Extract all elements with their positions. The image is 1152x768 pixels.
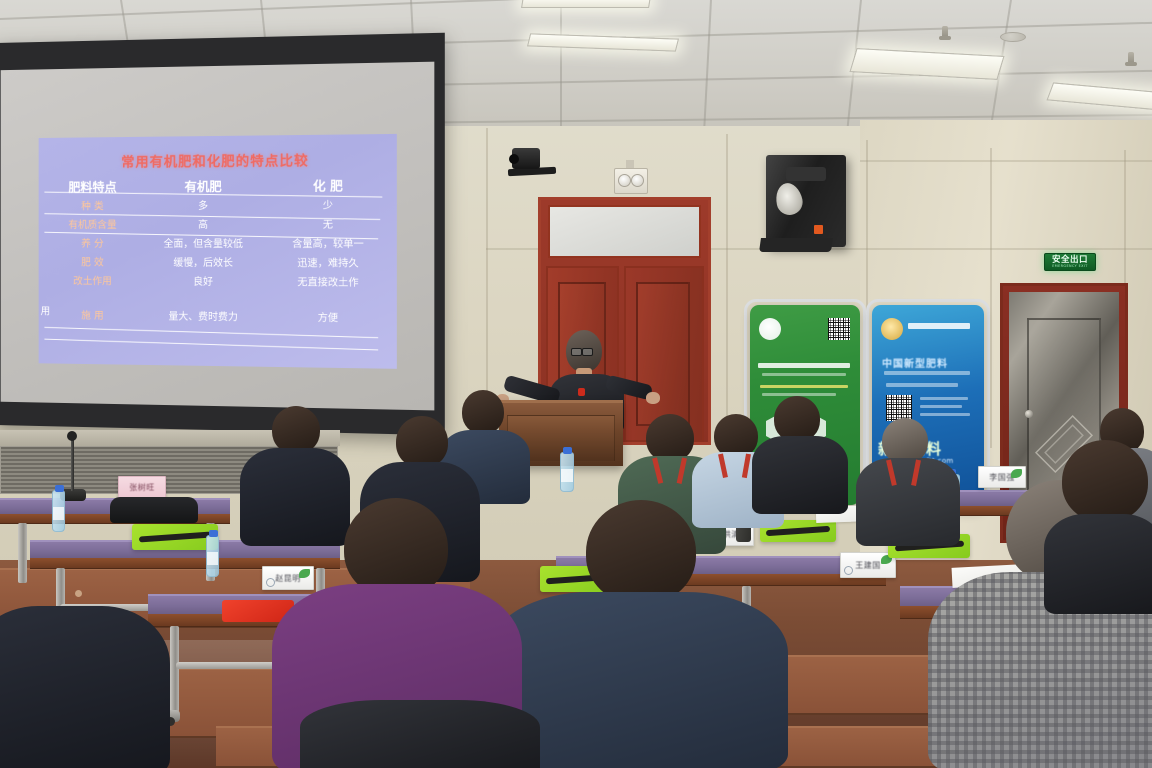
water-bottle <box>52 490 65 532</box>
banner-qr-code-icon <box>828 318 850 340</box>
cell-feature: 种 类 <box>46 197 139 212</box>
door-handle[interactable] <box>1025 410 1033 418</box>
sprinkler-head <box>1128 52 1134 66</box>
cell-organic: 全面，但含量较低 <box>139 235 268 250</box>
name-card-label: 张树旺 <box>129 482 155 493</box>
water-bottle <box>560 452 574 492</box>
ceiling-light-fixture <box>521 0 651 8</box>
presenter-right-hand <box>646 392 660 404</box>
cell-chemical: 迅速，难持久 <box>268 254 389 270</box>
attendee-torso <box>300 700 540 768</box>
banner-subline <box>762 373 846 376</box>
speaker-tweeter <box>786 167 826 181</box>
banner-subline <box>884 371 970 375</box>
attendee <box>1044 440 1152 600</box>
attendee-head <box>1062 440 1148 522</box>
attendee <box>0 606 170 768</box>
table-rule <box>44 327 378 338</box>
banner-badge-text <box>908 323 970 329</box>
table-row: 施 用 量大、费时费力 方便 <box>46 305 388 327</box>
cell-feature: 养 分 <box>46 235 139 250</box>
name-card: 张树旺 <box>118 476 166 498</box>
table-rule <box>44 339 378 351</box>
attendee <box>300 700 540 768</box>
lapel-pin <box>578 388 585 396</box>
cell-feature: 肥 效 <box>46 254 139 269</box>
exit-sign-label-zh: 安全出口 <box>1052 256 1088 265</box>
banner-tagline <box>886 383 958 387</box>
banner-headline: 中国新型肥料 <box>882 355 948 370</box>
bottle-cap <box>209 530 218 537</box>
emergency-exit-sign: 安全出口 EMERGENCY EXIT <box>1044 253 1096 271</box>
table-row: 肥 效 缓慢，后效长 迅速，难持久 <box>46 252 388 272</box>
folder-strap <box>139 531 211 542</box>
bottle-label <box>53 507 64 520</box>
cell-feature: 改土作用 <box>46 272 139 287</box>
pa-speaker <box>766 155 846 247</box>
desk-leg <box>18 523 27 583</box>
sprinkler-head <box>942 26 948 40</box>
cell-feature: 有机质含量 <box>46 216 139 231</box>
cell-organic: 高 <box>139 216 268 231</box>
wall-seam <box>486 128 488 428</box>
riser-stud <box>75 590 82 597</box>
microphone-stem <box>71 437 74 491</box>
speaker-mount-bracket <box>759 238 833 252</box>
slide-overflow-text: 用 <box>41 303 51 318</box>
leaf-icon <box>1011 469 1022 478</box>
camera-lens-icon <box>509 154 519 164</box>
table-row: 种 类 多 少 <box>46 194 388 214</box>
emergency-light-icon <box>614 168 648 194</box>
exit-sign-label-en: EMERGENCY EXIT <box>1052 264 1087 268</box>
cell-chemical: 无直接改土作 <box>268 273 389 289</box>
banner-contact-line <box>920 413 970 416</box>
banner-accent-line <box>760 385 848 388</box>
bottle-label <box>207 552 218 565</box>
presentation-slide: 常用有机肥和化肥的特点比较 肥料特点 有机肥 化 肥 种 类 多 少 有机质含量 <box>39 134 397 369</box>
attendee-torso <box>1044 514 1152 614</box>
cell-organic: 良好 <box>139 273 268 289</box>
banner-contact-line <box>920 397 968 400</box>
slide-title: 常用有机肥和化肥的特点比较 <box>39 148 397 171</box>
attendee <box>752 396 848 506</box>
card-logo-icon <box>844 566 853 575</box>
ceiling-vent <box>1000 32 1026 42</box>
banner-logo-icon <box>759 318 781 340</box>
door-transom-window <box>548 205 701 258</box>
attendee-torso <box>0 606 170 768</box>
bottle-cap <box>563 447 572 454</box>
attendee-head <box>396 416 448 468</box>
classroom-photo-scene: 常用有机肥和化肥的特点比较 肥料特点 有机肥 化 肥 种 类 多 少 有机质含量 <box>0 0 1152 768</box>
chair-back <box>110 497 198 523</box>
wall-seam <box>990 148 992 448</box>
cell-chemical: 少 <box>268 196 389 212</box>
attendee-head <box>586 500 696 604</box>
bottle-cap <box>55 485 64 492</box>
banner-contact-line <box>920 405 962 408</box>
cell-chemical: 方便 <box>268 308 389 324</box>
cell-feature: 施 用 <box>46 307 139 323</box>
microphone-head <box>67 431 77 441</box>
table-row: 改土作用 良好 无直接改土作 <box>46 270 388 291</box>
name-card-label: 王建国 <box>855 560 881 571</box>
speaker-cone <box>773 181 805 218</box>
wall-seam <box>726 134 728 434</box>
desk-leg <box>170 626 179 712</box>
speaker-brand-badge <box>814 225 823 234</box>
projector-screen-surface: 常用有机肥和化肥的特点比较 肥料特点 有机肥 化 肥 种 类 多 少 有机质含量 <box>1 62 435 411</box>
header-chemical: 化 肥 <box>268 175 389 195</box>
projector-screen: 常用有机肥和化肥的特点比较 肥料特点 有机肥 化 肥 种 类 多 少 有机质含量 <box>0 33 445 436</box>
cell-organic: 量大、费时费力 <box>139 307 268 323</box>
slide-comparison-table: 肥料特点 有机肥 化 肥 种 类 多 少 有机质含量 高 无 <box>46 175 388 327</box>
water-bottle <box>206 535 219 577</box>
banner-headline <box>758 363 850 368</box>
cell-organic: 缓慢，后效长 <box>139 254 268 269</box>
banner-logo-icon <box>881 318 903 340</box>
bottle-label <box>561 469 573 482</box>
attendee-head <box>646 414 694 462</box>
attendee-head <box>272 406 320 454</box>
attendee-head <box>344 498 448 598</box>
cell-organic: 多 <box>139 197 268 212</box>
wall-seam <box>860 160 1152 162</box>
presenter-glasses <box>571 348 593 354</box>
